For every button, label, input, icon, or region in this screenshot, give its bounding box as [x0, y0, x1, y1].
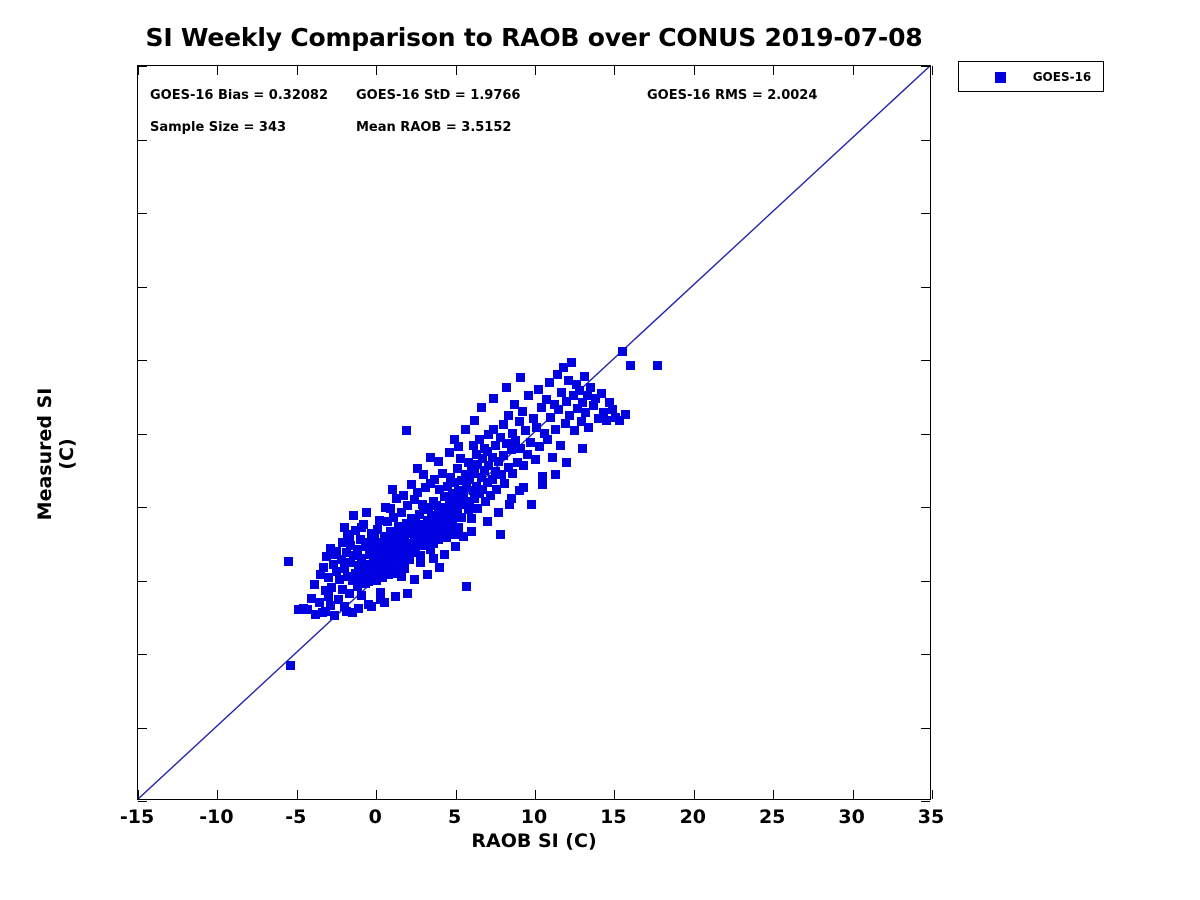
figure-canvas: SI Weekly Comparison to RAOB over CONUS … — [0, 0, 1200, 900]
y-axis-label: Measured SI (C) — [34, 374, 78, 534]
annotation-rms: GOES-16 RMS = 2.0024 — [647, 88, 817, 103]
annotation-bias: GOES-16 Bias = 0.32082 — [150, 88, 328, 103]
annotation-mean-raob: Mean RAOB = 3.5152 — [356, 120, 511, 135]
y-axis-tick-labels: -15-10-505101520253035 — [0, 0, 1200, 900]
legend-swatch-goes16 — [995, 72, 1006, 83]
legend-label-goes16: GOES-16 — [1029, 70, 1095, 84]
annotation-std: GOES-16 StD = 1.9766 — [356, 88, 520, 103]
x-axis-label: RAOB SI (C) — [137, 830, 931, 852]
legend[interactable]: GOES-16 — [958, 61, 1104, 92]
annotation-sample-size: Sample Size = 343 — [150, 120, 286, 135]
